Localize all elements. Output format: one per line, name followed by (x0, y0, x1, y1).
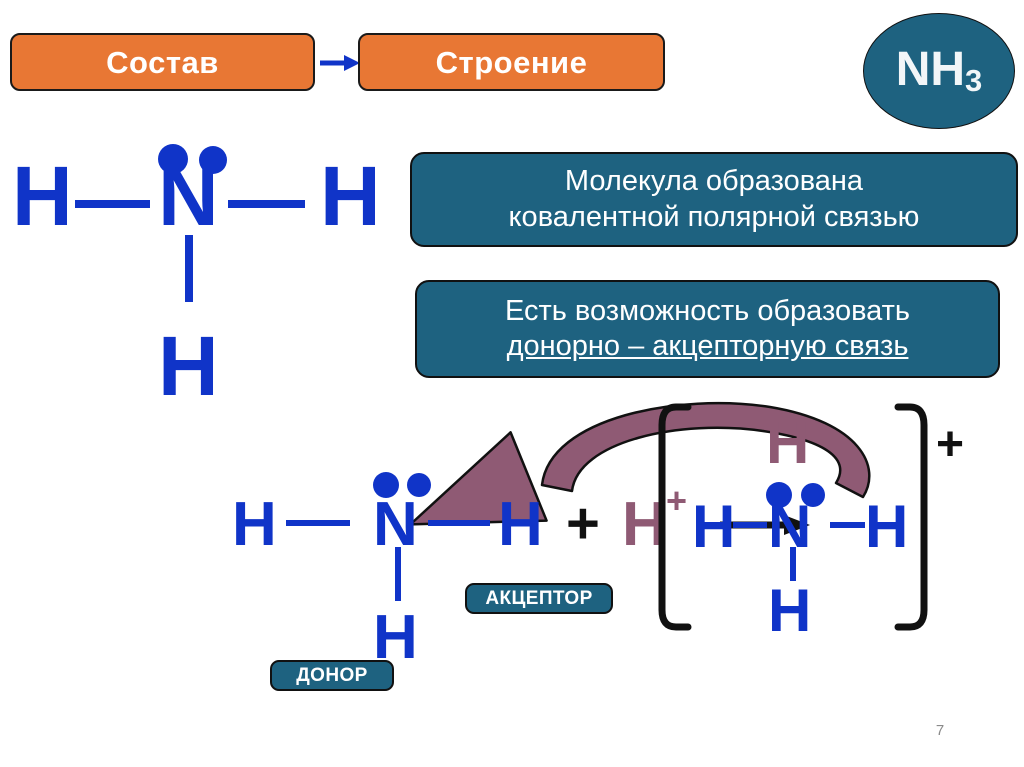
atom-h-right: H (320, 149, 381, 243)
atom-h-bottom: H (768, 577, 811, 644)
badge-acceptor: АКЦЕПТОР (465, 583, 613, 614)
atom-h-right: H (498, 490, 543, 559)
right-arrow-icon (318, 52, 360, 74)
page-number: 7 (925, 722, 955, 739)
nh3-formula-bubble: NH3 (863, 13, 1015, 129)
statement-donor-line-1: Есть возможность образовать (505, 294, 910, 329)
statement-covalent-bond: Молекула образована ковалентной полярной… (410, 152, 1018, 247)
ion-charge-plus: + (936, 418, 964, 471)
nh3-formula-text: NH3 (896, 46, 983, 96)
atom-h-left: H (12, 149, 73, 243)
flow-box-sostav-label: Состав (106, 47, 219, 78)
proton-charge-plus: + (666, 480, 687, 521)
badge-donor: ДОНОР (270, 660, 394, 691)
flow-box-sostav[interactable]: Состав (10, 33, 315, 91)
reaction-plus-sign: + (566, 491, 600, 556)
atom-n-center: N (158, 149, 219, 243)
atom-h-left: H (232, 490, 277, 559)
atom-h-left: H (692, 493, 735, 560)
atom-h-right: H (865, 493, 908, 560)
slide-canvas: Состав Строение NH3 Молекула образована … (0, 0, 1024, 767)
atom-h-transferred: H (766, 409, 809, 476)
atom-n-center: N (768, 493, 811, 560)
statement-donor-acceptor-bond: Есть возможность образовать донорно – ак… (415, 280, 1000, 378)
atom-n-center: N (373, 490, 418, 559)
flow-box-stroenie-label: Строение (436, 47, 588, 78)
donor-acceptor-reaction: H N H H + H + + H (210, 395, 1024, 685)
statement-covalent-line-2: ковалентной полярной связью (509, 200, 920, 235)
ammonia-lewis-structure-large: H N H H (0, 130, 420, 410)
statement-donor-line-2: донорно – акцепторную связь (507, 329, 909, 364)
proton-acceptor: H + (622, 480, 687, 559)
statement-covalent-line-1: Молекула образована (565, 164, 863, 199)
nh3-element: NH (896, 43, 965, 96)
flow-box-stroenie[interactable]: Строение (358, 33, 665, 91)
badge-donor-label: ДОНОР (296, 665, 368, 687)
badge-acceptor-label: АКЦЕПТОР (485, 588, 592, 610)
nh3-subscript: 3 (965, 63, 982, 98)
